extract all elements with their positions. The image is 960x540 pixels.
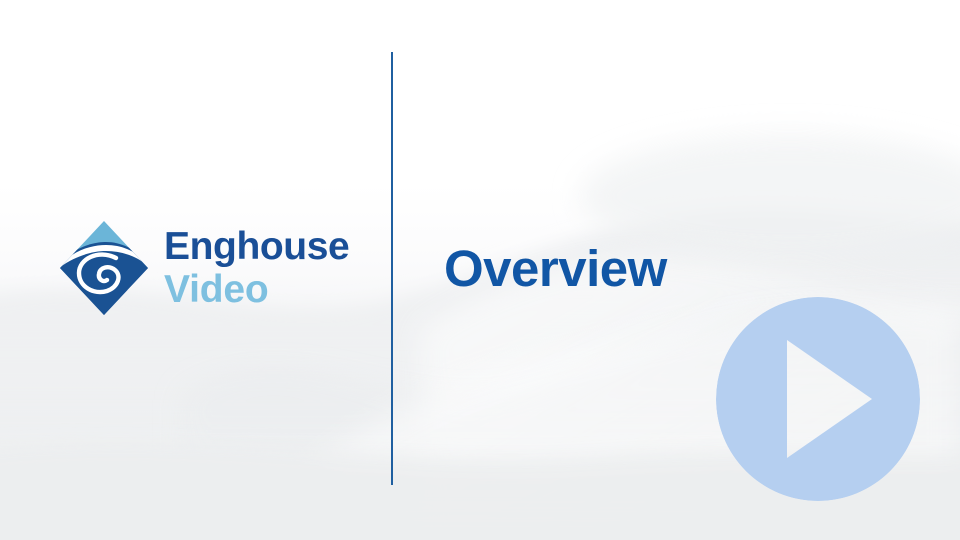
brand-name-video: Video: [164, 270, 349, 309]
vertical-divider: [391, 52, 393, 485]
play-circle-icon[interactable]: [716, 297, 920, 501]
brand-logo: Enghouse Video: [58, 218, 349, 318]
brand-name-enghouse: Enghouse: [164, 227, 349, 266]
slide-canvas: Enghouse Video Overview: [0, 0, 960, 540]
page-title: Overview: [444, 243, 667, 294]
brand-wordmark: Enghouse Video: [164, 227, 349, 309]
diamond-eye-spiral-icon: [58, 218, 150, 318]
